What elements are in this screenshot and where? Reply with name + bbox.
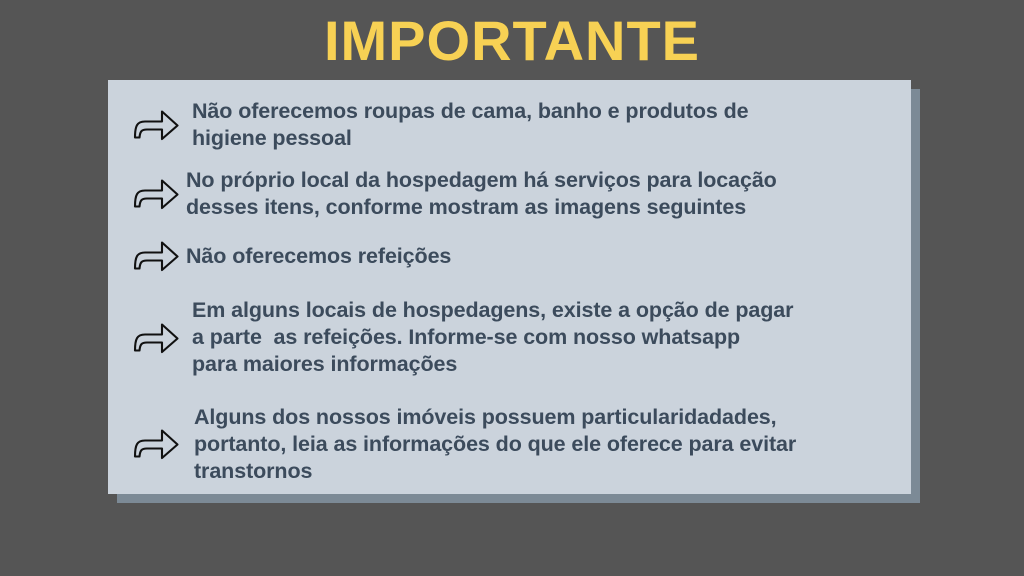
content-panel: Não oferecemos roupas de cama, banho e p… <box>108 80 911 494</box>
list-item-label: Não oferecemos refeições <box>186 243 901 270</box>
list-item: Em alguns locais de hospedagens, existe … <box>130 297 901 378</box>
list-item-label: Não oferecemos roupas de cama, banho e p… <box>186 98 901 152</box>
list-item: Não oferecemos roupas de cama, banho e p… <box>130 98 901 152</box>
list-item: No próprio local da hospedagem há serviç… <box>130 167 901 221</box>
slide-canvas: IMPORTANTE Não oferecemos roupas de cama… <box>0 0 1024 576</box>
list-item-label: No próprio local da hospedagem há serviç… <box>186 167 901 221</box>
curved-right-arrow-icon <box>130 236 182 276</box>
list-item: Alguns dos nossos imóveis possuem partic… <box>130 404 901 485</box>
curved-right-arrow-icon <box>130 318 182 358</box>
list-item: Não oferecemos refeições <box>130 236 901 276</box>
bullet-list: Não oferecemos roupas de cama, banho e p… <box>108 80 911 494</box>
curved-right-arrow-icon <box>130 174 182 214</box>
page-title: IMPORTANTE <box>0 12 1024 71</box>
curved-right-arrow-icon <box>130 424 182 464</box>
list-item-label: Alguns dos nossos imóveis possuem partic… <box>186 404 901 485</box>
list-item-label: Em alguns locais de hospedagens, existe … <box>186 297 901 378</box>
curved-right-arrow-icon <box>130 105 182 145</box>
